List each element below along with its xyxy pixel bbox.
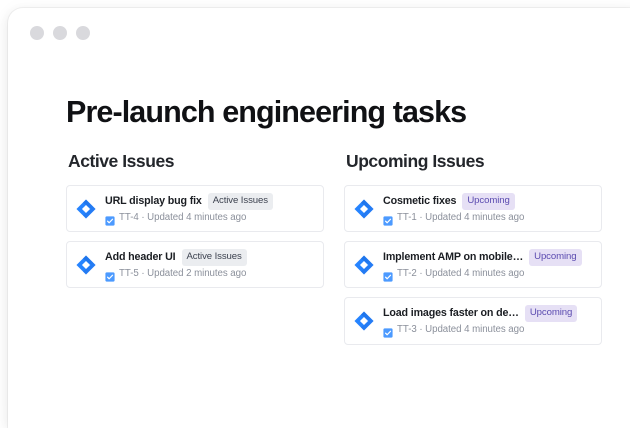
issue-meta: TT-2 · Updated 4 minutes ago xyxy=(397,268,524,281)
jira-issue-icon xyxy=(353,310,375,332)
screenshot-stage: Pre-launch engineering tasks Active Issu… xyxy=(0,0,630,404)
issue-summary: Implement AMP on mobile… xyxy=(383,250,523,264)
browser-window: Pre-launch engineering tasks Active Issu… xyxy=(8,8,630,428)
issue-summary: Cosmetic fixes xyxy=(383,194,456,208)
issue-card-header: URL display bug fix Active Issues xyxy=(105,193,314,210)
issue-meta: TT-3 · Updated 4 minutes ago xyxy=(397,324,524,337)
issue-card-meta-row: TT-3 · Updated 4 minutes ago xyxy=(383,324,592,337)
jira-issue-icon xyxy=(75,254,97,276)
checkbox-checked-icon xyxy=(383,213,393,223)
column-title-upcoming-issues: Upcoming Issues xyxy=(346,151,602,172)
issue-column-upcoming-issues: Upcoming Issues xyxy=(344,151,602,354)
issue-meta: TT-5 · Updated 2 minutes ago xyxy=(119,268,246,281)
checkbox-checked-icon xyxy=(383,325,393,335)
issue-status-badge: Upcoming xyxy=(462,193,514,210)
issue-card-tt-2[interactable]: Implement AMP on mobile… Upcoming TT-2 ·… xyxy=(344,241,602,288)
issue-card-tt-3[interactable]: Load images faster on de… Upcoming TT-3 … xyxy=(344,297,602,344)
card-list-upcoming-issues: Cosmetic fixes Upcoming TT-1 · Updated 4… xyxy=(344,185,602,345)
issue-card-meta-row: TT-4 · Updated 4 minutes ago xyxy=(105,212,314,225)
issue-card-header: Implement AMP on mobile… Upcoming xyxy=(383,249,592,266)
issue-status-badge: Active Issues xyxy=(208,193,273,210)
issue-columns: Active Issues xyxy=(66,151,606,354)
issue-summary: Load images faster on de… xyxy=(383,306,519,320)
column-title-active-issues: Active Issues xyxy=(68,151,324,172)
issue-card-meta-row: TT-5 · Updated 2 minutes ago xyxy=(105,268,314,281)
page-title: Pre-launch engineering tasks xyxy=(66,96,466,130)
page-content: Pre-launch engineering tasks Active Issu… xyxy=(8,8,630,428)
issue-card-tt-5[interactable]: Add header UI Active Issues TT-5 · Updat… xyxy=(66,241,324,288)
issue-card-meta-row: TT-2 · Updated 4 minutes ago xyxy=(383,268,592,281)
issue-meta: TT-1 · Updated 4 minutes ago xyxy=(397,212,524,225)
issue-summary: URL display bug fix xyxy=(105,194,202,208)
issue-card-header: Add header UI Active Issues xyxy=(105,249,314,266)
jira-issue-icon xyxy=(353,198,375,220)
issue-card-meta-row: TT-1 · Updated 4 minutes ago xyxy=(383,212,592,225)
issue-summary: Add header UI xyxy=(105,250,176,264)
issue-card-body: Implement AMP on mobile… Upcoming TT-2 ·… xyxy=(383,249,592,280)
issue-card-body: Add header UI Active Issues TT-5 · Updat… xyxy=(105,249,314,280)
issue-card-header: Cosmetic fixes Upcoming xyxy=(383,193,592,210)
issue-status-badge: Active Issues xyxy=(182,249,247,266)
issue-status-badge: Upcoming xyxy=(529,249,581,266)
issue-status-badge: Upcoming xyxy=(525,305,577,322)
card-list-active-issues: URL display bug fix Active Issues TT-4 ·… xyxy=(66,185,324,288)
checkbox-checked-icon xyxy=(383,269,393,279)
issue-card-body: URL display bug fix Active Issues TT-4 ·… xyxy=(105,193,314,224)
issue-card-tt-1[interactable]: Cosmetic fixes Upcoming TT-1 · Updated 4… xyxy=(344,185,602,232)
issue-column-active-issues: Active Issues xyxy=(66,151,324,354)
issue-card-body: Load images faster on de… Upcoming TT-3 … xyxy=(383,305,592,336)
checkbox-checked-icon xyxy=(105,269,115,279)
issue-card-tt-4[interactable]: URL display bug fix Active Issues TT-4 ·… xyxy=(66,185,324,232)
issue-card-header: Load images faster on de… Upcoming xyxy=(383,305,592,322)
jira-issue-icon xyxy=(75,198,97,220)
jira-issue-icon xyxy=(353,254,375,276)
checkbox-checked-icon xyxy=(105,213,115,223)
issue-card-body: Cosmetic fixes Upcoming TT-1 · Updated 4… xyxy=(383,193,592,224)
issue-meta: TT-4 · Updated 4 minutes ago xyxy=(119,212,246,225)
